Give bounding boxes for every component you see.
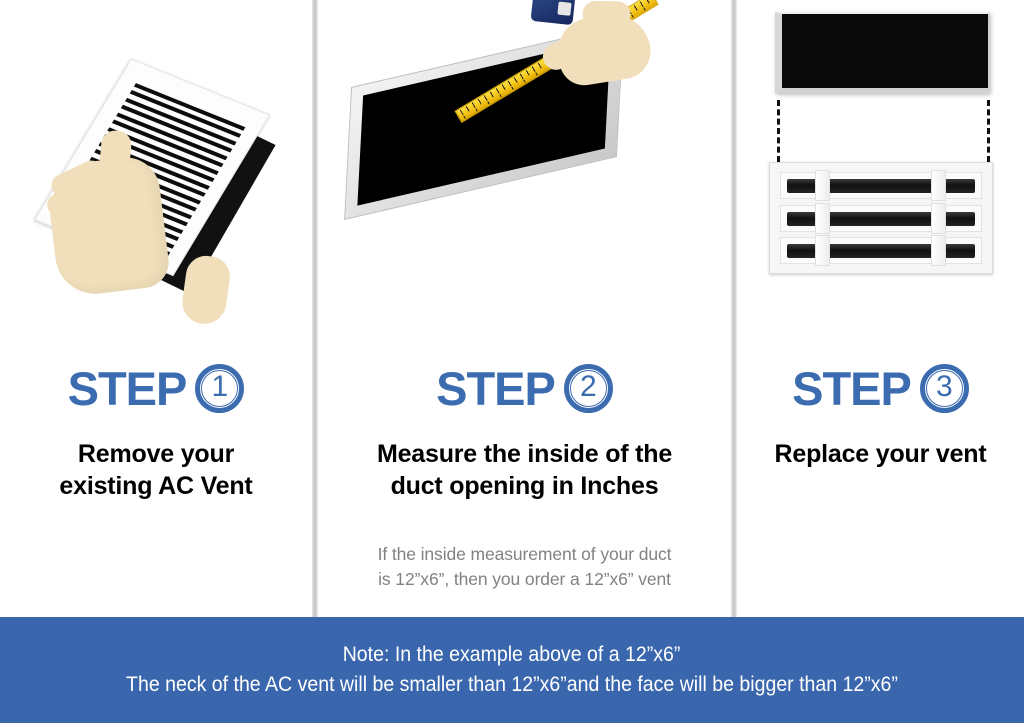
step-1-heading: STEP 1 [0, 360, 312, 416]
step-column-2: STEP 2 Measure the inside of the duct op… [318, 0, 731, 617]
step-number-circle-icon: 1 [195, 364, 244, 413]
vent-face-panel [775, 12, 990, 93]
note-bar: Note: In the example above of a 12”x6” T… [0, 617, 1024, 723]
step-number: 3 [936, 372, 953, 402]
step-1-title-line-2: existing AC Vent [0, 470, 312, 502]
note-line-2: The neck of the AC vent will be smaller … [126, 672, 898, 698]
step-2-subtitle-line-2: is 12”x6”, then you order a 12”x6” vent [318, 567, 731, 592]
step-2-illustration [318, 0, 731, 360]
step-number: 2 [580, 372, 597, 402]
step-label: STEP [792, 365, 911, 412]
vent-grille-body [769, 162, 993, 274]
step-number-circle-icon: 2 [564, 364, 613, 413]
step-3-illustration [737, 0, 1024, 360]
step-3-title-line-1: Replace your vent [737, 438, 1024, 470]
step-2-title-line-1: Measure the inside of the [318, 438, 731, 470]
step-2-subtitle: If the inside measurement of your duct i… [318, 542, 731, 593]
step-2-subtitle-line-1: If the inside measurement of your duct [318, 542, 731, 567]
step-3-heading: STEP 3 [737, 360, 1024, 416]
step-column-1: STEP 1 Remove your existing AC Vent [0, 0, 312, 617]
step-3-title: Replace your vent [737, 438, 1024, 470]
tape-measure-case-icon [531, 0, 576, 25]
grille-row [780, 237, 982, 264]
grille-row [780, 205, 982, 232]
ac-vent-grille-illustration [52, 74, 282, 299]
note-line-1: Note: In the example above of a 12”x6” [343, 642, 681, 668]
step-label: STEP [68, 365, 187, 412]
step-number-circle-icon: 3 [920, 364, 969, 413]
alignment-dashed-line-left [777, 100, 780, 162]
step-2-title-line-2: duct opening in Inches [318, 470, 731, 502]
instruction-graphic: STEP 1 Remove your existing AC Vent [0, 0, 1024, 723]
step-2-title: Measure the inside of the duct opening i… [318, 438, 731, 502]
step-2-heading: STEP 2 [318, 360, 731, 416]
step-number: 1 [212, 372, 229, 402]
step-1-title: Remove your existing AC Vent [0, 438, 312, 502]
grille-row [780, 172, 982, 199]
step-1-title-line-1: Remove your [0, 438, 312, 470]
alignment-dashed-line-right [987, 100, 990, 162]
step-column-3: STEP 3 Replace your vent [737, 0, 1024, 617]
step-1-illustration [0, 0, 312, 360]
step-label: STEP [436, 365, 555, 412]
hand-icon [44, 154, 171, 299]
